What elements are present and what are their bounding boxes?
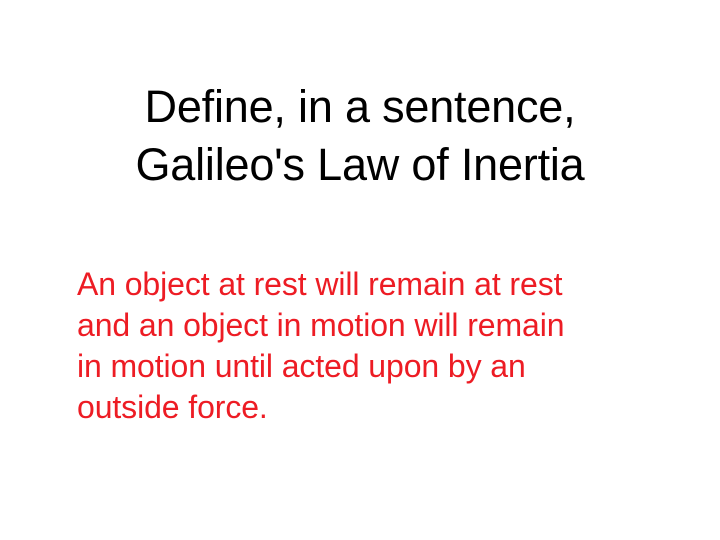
title-line-2: Galileo's Law of Inertia xyxy=(0,136,720,194)
body-line-2: and an object in motion will remain xyxy=(77,305,649,346)
page-title: Define, in a sentence, Galileo's Law of … xyxy=(0,78,720,194)
body-line-1: An object at rest will remain at rest xyxy=(77,264,649,305)
body-line-3: in motion until acted upon by an xyxy=(77,346,649,387)
slide-body-text: An object at rest will remain at rest an… xyxy=(77,264,649,428)
body-line-4: outside force. xyxy=(77,387,649,428)
slide-canvas: Define, in a sentence, Galileo's Law of … xyxy=(0,0,720,540)
title-line-1: Define, in a sentence, xyxy=(0,78,720,136)
